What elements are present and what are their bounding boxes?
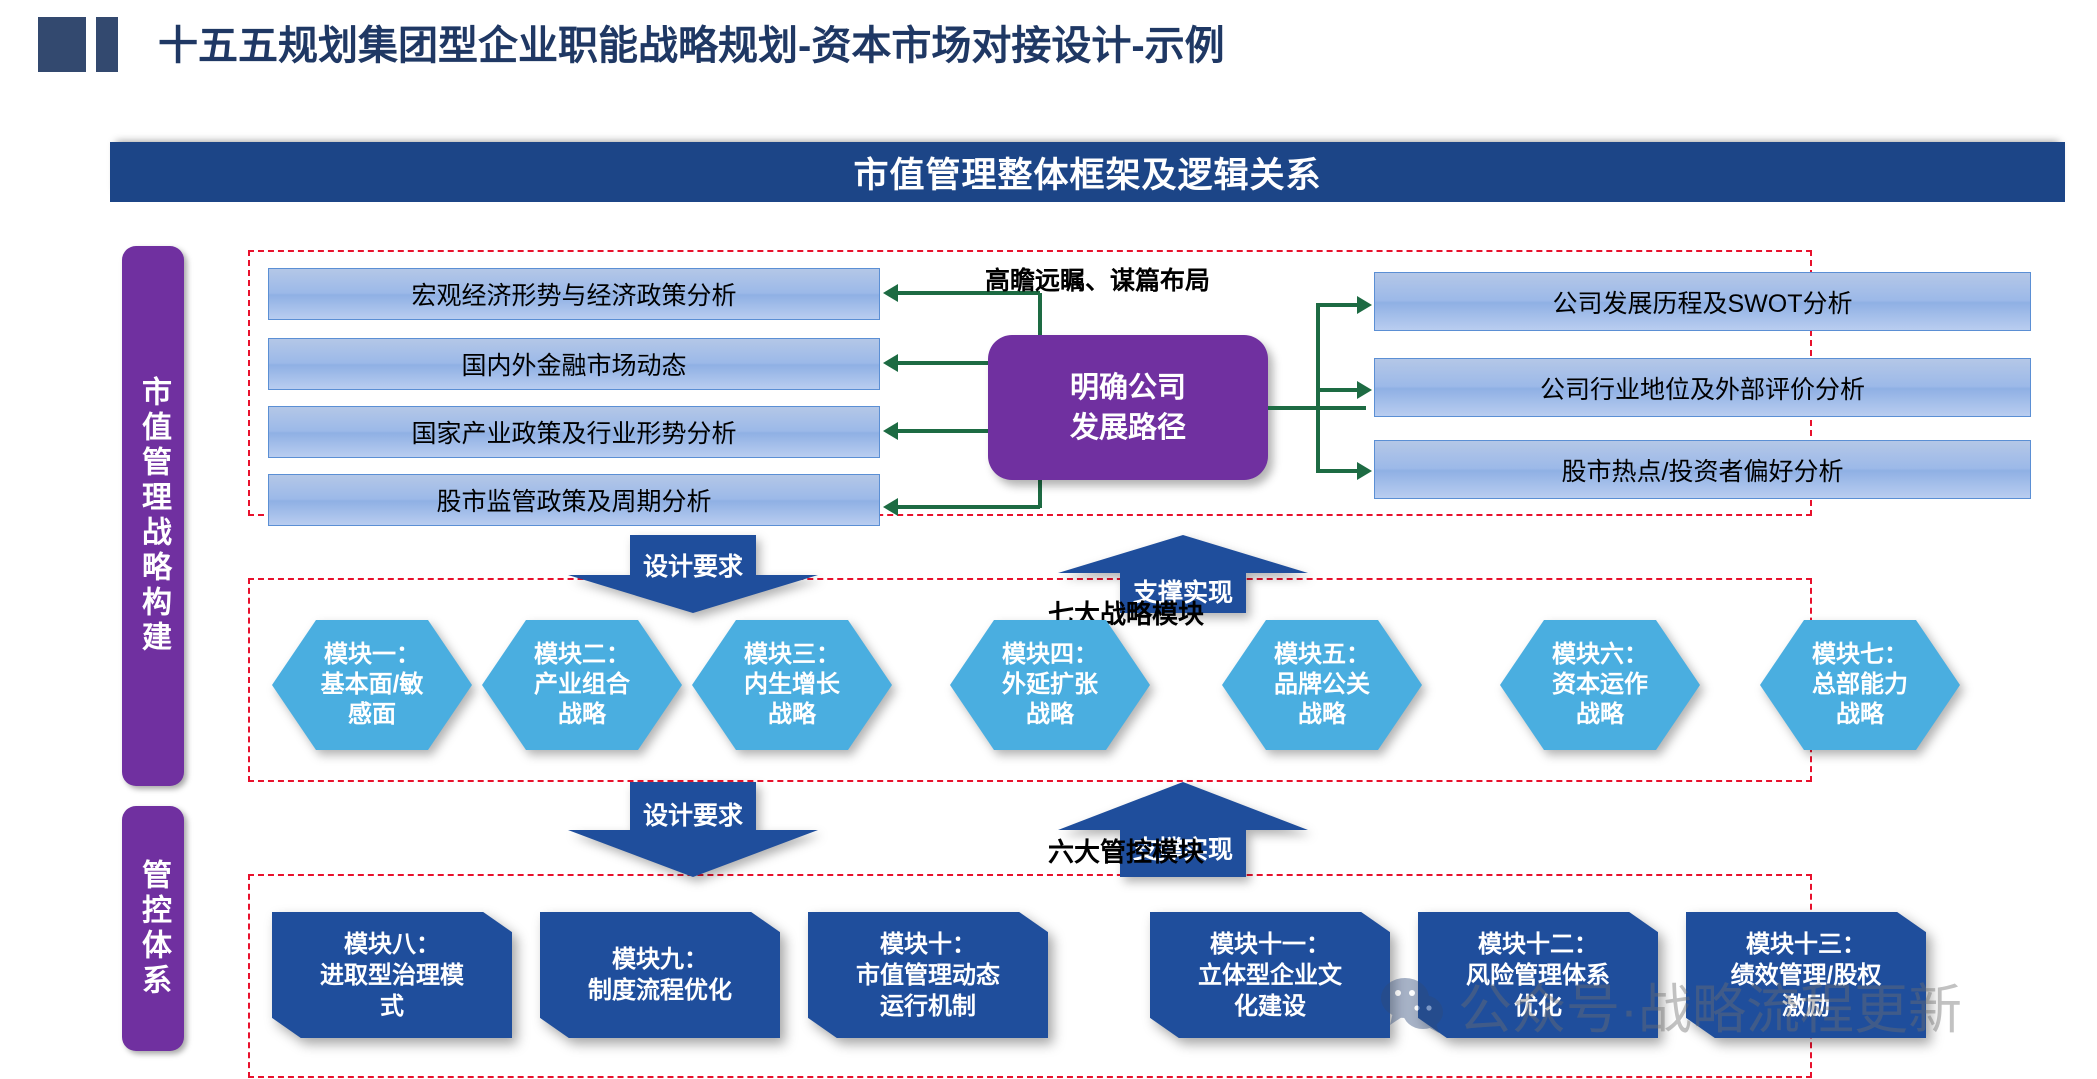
module-box-8-label: 模块八： 进取型治理模 式 bbox=[312, 929, 472, 1022]
module-box-12-label: 模块十二： 风险管理体系 优化 bbox=[1458, 929, 1618, 1022]
module-box-11-label: 模块十一： 立体型企业文 化建设 bbox=[1190, 929, 1350, 1022]
arrow-design-requirement-2: 设计要求 bbox=[568, 782, 818, 877]
caption-six-modules: 六大管控模块 bbox=[1048, 832, 1204, 869]
output-box-swot[interactable]: 公司发展历程及SWOT分析 bbox=[1374, 272, 2031, 331]
sidebar-label-control[interactable]: 管控体系 bbox=[122, 806, 184, 1051]
sidebar-label-strategy-text: 市值管理战略构建 bbox=[136, 376, 170, 656]
slide-root: 十五五规划集团型企业职能战略规划-资本市场对接设计-示例 市值管理整体框架及逻辑… bbox=[0, 0, 2097, 1079]
module-box-11[interactable]: 模块十一： 立体型企业文 化建设 bbox=[1150, 912, 1390, 1038]
hex-module-6[interactable]: 模块六： 资本运作 战略 bbox=[1500, 620, 1700, 750]
arrow-left-icon-3 bbox=[883, 422, 898, 440]
connector-right-branch-2 bbox=[1316, 388, 1358, 392]
input-box-stock-regulation[interactable]: 股市监管政策及周期分析 bbox=[268, 474, 880, 526]
module-box-13[interactable]: 模块十三： 绩效管理/股权 激励 bbox=[1686, 912, 1926, 1038]
arrow-design-requirement-1-label: 设计要求 bbox=[568, 547, 818, 583]
hex-module-4[interactable]: 模块四： 外延扩张 战略 bbox=[950, 620, 1150, 750]
arrow-right-icon-1 bbox=[1357, 296, 1372, 314]
arrow-right-icon-2 bbox=[1357, 381, 1372, 399]
node-company-path[interactable]: 明确公司 发展路径 bbox=[988, 335, 1268, 480]
banner-title: 市值管理整体框架及逻辑关系 bbox=[853, 147, 1321, 198]
section-banner: 市值管理整体框架及逻辑关系 bbox=[110, 142, 2065, 202]
hex-module-2-label: 模块二： 产业组合 战略 bbox=[534, 640, 630, 730]
page-title: 十五五规划集团型企业职能战略规划-资本市场对接设计-示例 bbox=[158, 18, 1225, 74]
module-box-9-label: 模块九： 制度流程优化 bbox=[580, 944, 740, 1006]
arrow-right-icon-3 bbox=[1357, 462, 1372, 480]
hex-module-6-label: 模块六： 资本运作 战略 bbox=[1552, 640, 1648, 730]
header-accent-block-narrow bbox=[96, 17, 118, 72]
input-box-industry-policy[interactable]: 国家产业政策及行业形势分析 bbox=[268, 406, 880, 458]
module-box-13-label: 模块十三： 绩效管理/股权 激励 bbox=[1723, 929, 1890, 1022]
header-accent-block-wide bbox=[38, 17, 86, 72]
output-box-investor-preference[interactable]: 股市热点/投资者偏好分析 bbox=[1374, 440, 2031, 499]
arrow-left-icon-2 bbox=[883, 354, 898, 372]
hex-module-7-label: 模块七： 总部能力 战略 bbox=[1812, 640, 1908, 730]
node-company-path-text: 明确公司 发展路径 bbox=[1070, 368, 1186, 448]
hex-module-5-label: 模块五： 品牌公关 战略 bbox=[1274, 640, 1370, 730]
input-box-macro-economy[interactable]: 宏观经济形势与经济政策分析 bbox=[268, 268, 880, 320]
hex-module-3[interactable]: 模块三： 内生增长 战略 bbox=[692, 620, 892, 750]
connector-left-branch-4 bbox=[898, 505, 1040, 509]
connector-right-branch-3 bbox=[1316, 469, 1358, 473]
sidebar-label-strategy[interactable]: 市值管理战略构建 bbox=[122, 246, 184, 786]
hex-module-3-label: 模块三： 内生增长 战略 bbox=[744, 640, 840, 730]
module-box-10-label: 模块十： 市值管理动态 运行机制 bbox=[848, 929, 1008, 1022]
input-box-financial-market[interactable]: 国内外金融市场动态 bbox=[268, 338, 880, 390]
module-box-9[interactable]: 模块九： 制度流程优化 bbox=[540, 912, 780, 1038]
sidebar-label-control-text: 管控体系 bbox=[136, 859, 170, 999]
module-box-8[interactable]: 模块八： 进取型治理模 式 bbox=[272, 912, 512, 1038]
module-box-12[interactable]: 模块十二： 风险管理体系 优化 bbox=[1418, 912, 1658, 1038]
connector-right-branch-1 bbox=[1316, 303, 1358, 307]
arrow-left-icon-4 bbox=[883, 498, 898, 516]
hex-module-5[interactable]: 模块五： 品牌公关 战略 bbox=[1222, 620, 1422, 750]
hex-module-2[interactable]: 模块二： 产业组合 战略 bbox=[482, 620, 682, 750]
module-box-10[interactable]: 模块十： 市值管理动态 运行机制 bbox=[808, 912, 1048, 1038]
arrow-left-icon-1 bbox=[883, 284, 898, 302]
arrow-design-requirement-2-label: 设计要求 bbox=[568, 796, 818, 832]
caption-vision: 高瞻远瞩、谋篇布局 bbox=[985, 265, 1235, 297]
hex-module-4-label: 模块四： 外延扩张 战略 bbox=[1002, 640, 1098, 730]
arrow-design-requirement-1: 设计要求 bbox=[568, 535, 818, 613]
hex-module-1[interactable]: 模块一： 基本面/敏 感面 bbox=[272, 620, 472, 750]
hex-module-7[interactable]: 模块七： 总部能力 战略 bbox=[1760, 620, 1960, 750]
hex-module-1-label: 模块一： 基本面/敏 感面 bbox=[321, 640, 424, 730]
output-box-industry-position[interactable]: 公司行业地位及外部评价分析 bbox=[1374, 358, 2031, 417]
